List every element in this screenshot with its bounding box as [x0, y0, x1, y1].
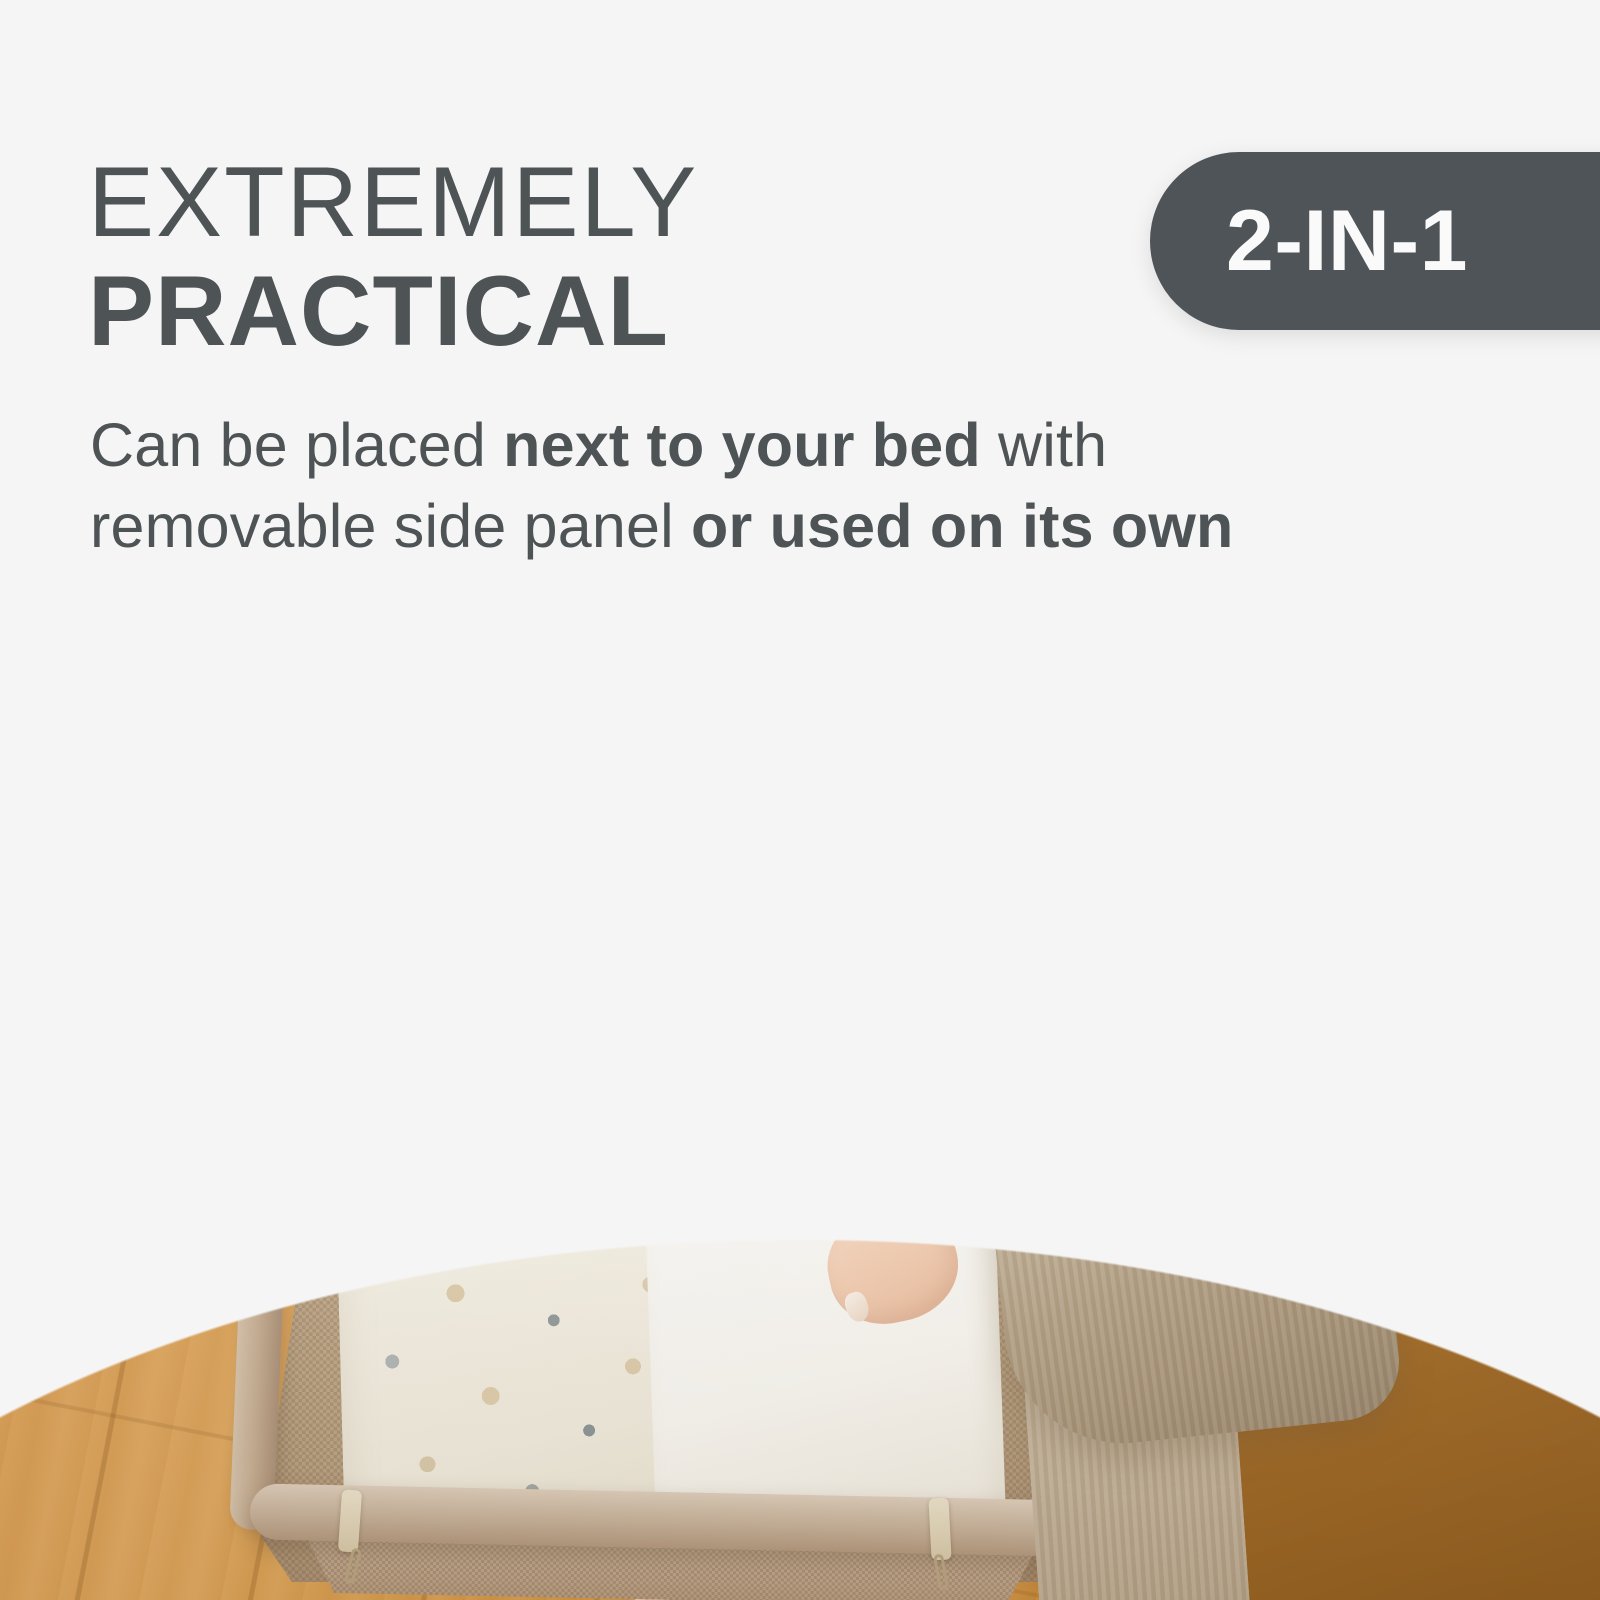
subtitle-emphasis-2: or used on its own	[691, 492, 1233, 560]
mother	[640, 640, 1340, 1500]
feature-badge-label: 2-IN-1	[1226, 198, 1468, 284]
headline-line-2: PRACTICAL	[88, 261, 698, 360]
headline-line-1: EXTREMELY	[88, 152, 698, 251]
bedroom-scene	[0, 640, 1600, 1600]
product-photo	[0, 640, 1600, 1600]
headline: EXTREMELY PRACTICAL	[88, 152, 698, 360]
feature-badge: 2-IN-1	[1150, 152, 1600, 330]
crib-zipper-right	[928, 1498, 951, 1561]
subtitle-emphasis-1: next to your bed	[503, 411, 981, 479]
subtitle: Can be placed next to your bed with remo…	[90, 405, 1310, 566]
infographic-canvas: EXTREMELY PRACTICAL Can be placed next t…	[0, 0, 1600, 1600]
mother-hand-right	[818, 1198, 968, 1335]
bed-leg-foot	[1492, 1294, 1559, 1342]
subtitle-part-1: Can be placed	[90, 411, 503, 479]
bed-leg	[1500, 1200, 1596, 1380]
